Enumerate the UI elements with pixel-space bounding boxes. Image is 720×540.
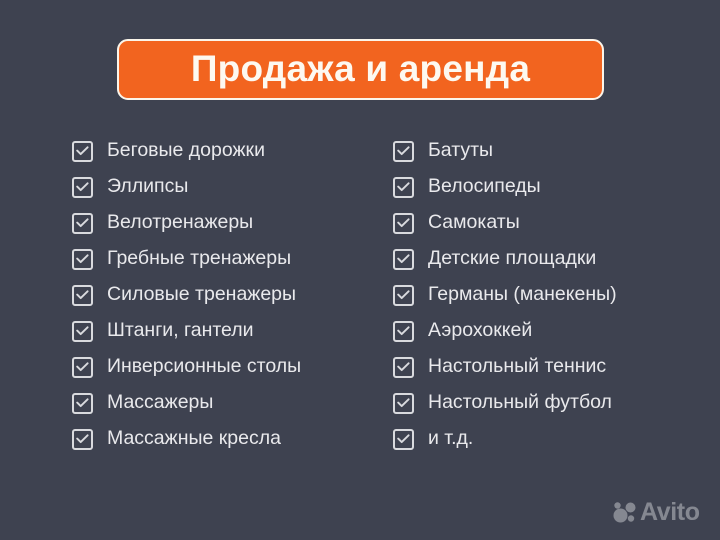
checklist-column-left: Беговые дорожкиЭллипсыВелотренажерыГребн… bbox=[72, 133, 382, 457]
checklist-item-label: и т.д. bbox=[428, 429, 473, 449]
checklist-item[interactable]: Беговые дорожки bbox=[72, 133, 382, 169]
checklist-item-label: Массажные кресла bbox=[107, 429, 281, 449]
checkbox-checked-icon[interactable] bbox=[72, 393, 93, 414]
checklist-item-label: Аэрохоккей bbox=[428, 321, 532, 341]
checkbox-checked-icon[interactable] bbox=[393, 213, 414, 234]
checklist-item-label: Детские площадки bbox=[428, 249, 596, 269]
checklist-item[interactable]: Гребные тренажеры bbox=[72, 241, 382, 277]
checklist-item-label: Германы (манекены) bbox=[428, 285, 617, 305]
checklist-item[interactable]: Инверсионные столы bbox=[72, 349, 382, 385]
checkbox-checked-icon[interactable] bbox=[393, 177, 414, 198]
checkbox-checked-icon[interactable] bbox=[72, 141, 93, 162]
checkbox-checked-icon[interactable] bbox=[72, 285, 93, 306]
checklist-item[interactable]: Аэрохоккей bbox=[393, 313, 693, 349]
checklist-item-label: Массажеры bbox=[107, 393, 213, 413]
checklist-item-label: Гребные тренажеры bbox=[107, 249, 291, 269]
checklist-item[interactable]: Самокаты bbox=[393, 205, 693, 241]
checkbox-checked-icon[interactable] bbox=[393, 141, 414, 162]
checklist-item-label: Инверсионные столы bbox=[107, 357, 301, 377]
checklist-item[interactable]: Штанги, гантели bbox=[72, 313, 382, 349]
checklist-item[interactable]: Германы (манекены) bbox=[393, 277, 693, 313]
checklist-item-label: Силовые тренажеры bbox=[107, 285, 296, 305]
checkbox-checked-icon[interactable] bbox=[72, 213, 93, 234]
checklist-item[interactable]: Велотренажеры bbox=[72, 205, 382, 241]
checklist-item[interactable]: Батуты bbox=[393, 133, 693, 169]
checklist-item[interactable]: Настольный футбол bbox=[393, 385, 693, 421]
page-title: Продажа и аренда bbox=[191, 50, 530, 87]
checklist-item[interactable]: Массажные кресла bbox=[72, 421, 382, 457]
checkbox-checked-icon[interactable] bbox=[72, 249, 93, 270]
checklist-item-label: Велотренажеры bbox=[107, 213, 253, 233]
checklist-item-label: Настольный теннис bbox=[428, 357, 606, 377]
checklist-item[interactable]: Массажеры bbox=[72, 385, 382, 421]
title-banner-surface: Продажа и аренда bbox=[117, 39, 604, 100]
checkbox-checked-icon[interactable] bbox=[393, 357, 414, 378]
checklist-item-label: Батуты bbox=[428, 141, 493, 161]
checklist-item[interactable]: Эллипсы bbox=[72, 169, 382, 205]
checkbox-checked-icon[interactable] bbox=[393, 285, 414, 306]
avito-watermark: Avito bbox=[613, 500, 700, 525]
checkbox-checked-icon[interactable] bbox=[72, 177, 93, 198]
checkbox-checked-icon[interactable] bbox=[72, 357, 93, 378]
checklist-item-label: Настольный футбол bbox=[428, 393, 612, 413]
avito-wordmark: Avito bbox=[640, 500, 700, 525]
promo-slide: Продажа и аренда Беговые дорожкиЭллипсыВ… bbox=[0, 0, 720, 540]
checkbox-checked-icon[interactable] bbox=[393, 429, 414, 450]
checklist-item-label: Велосипеды bbox=[428, 177, 541, 197]
avito-dots-icon bbox=[613, 502, 637, 523]
checklist-item[interactable]: Велосипеды bbox=[393, 169, 693, 205]
checklist-item-label: Самокаты bbox=[428, 213, 520, 233]
checklist-item[interactable]: и т.д. bbox=[393, 421, 693, 457]
checklist-column-right: БатутыВелосипедыСамокатыДетские площадки… bbox=[393, 133, 693, 457]
checklist-item-label: Штанги, гантели bbox=[107, 321, 254, 341]
checklist-item[interactable]: Настольный теннис bbox=[393, 349, 693, 385]
checklist-item-label: Эллипсы bbox=[107, 177, 188, 197]
checkbox-checked-icon[interactable] bbox=[72, 429, 93, 450]
checklist-item[interactable]: Силовые тренажеры bbox=[72, 277, 382, 313]
checkbox-checked-icon[interactable] bbox=[72, 321, 93, 342]
checkbox-checked-icon[interactable] bbox=[393, 249, 414, 270]
checklist-item[interactable]: Детские площадки bbox=[393, 241, 693, 277]
checkbox-checked-icon[interactable] bbox=[393, 321, 414, 342]
checkbox-checked-icon[interactable] bbox=[393, 393, 414, 414]
title-banner: Продажа и аренда bbox=[117, 39, 604, 100]
checklist-item-label: Беговые дорожки bbox=[107, 141, 265, 161]
